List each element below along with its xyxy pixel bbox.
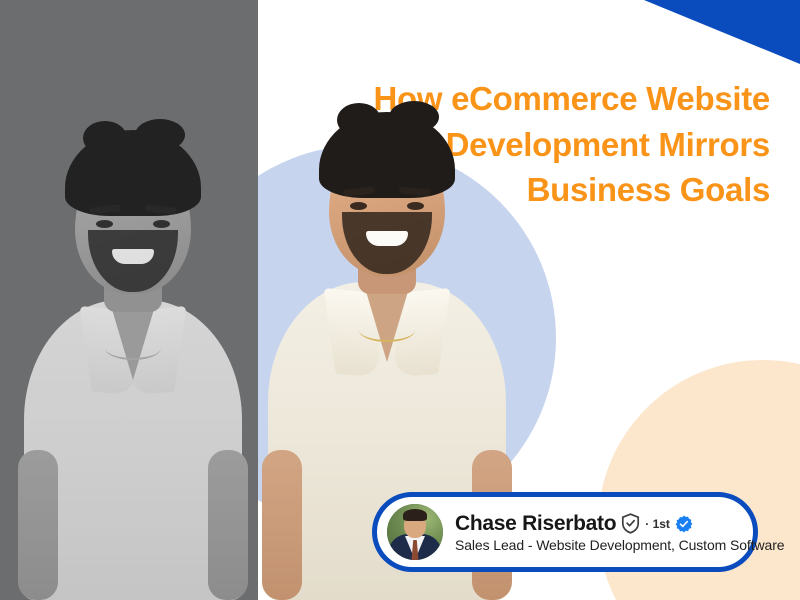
portrait-arm-left bbox=[18, 450, 58, 600]
portrait-hair bbox=[65, 130, 201, 216]
portrait-eye-right bbox=[153, 220, 170, 228]
portrait-arm-right bbox=[208, 450, 248, 600]
portrait-eye-right bbox=[407, 202, 424, 210]
portrait-hair bbox=[319, 112, 455, 198]
profile-subtitle: Sales Lead - Website Development, Custom… bbox=[455, 537, 737, 553]
profile-card-text: Chase Riserbato · 1st Sales Lead - Websi… bbox=[455, 512, 737, 553]
portrait-smile bbox=[112, 249, 154, 264]
grayscale-portrait bbox=[18, 130, 248, 600]
portrait-eye-left bbox=[350, 202, 367, 210]
avatar-hair bbox=[403, 509, 427, 521]
promo-banner: How eCommerce Website Development Mirror… bbox=[0, 0, 800, 600]
profile-card[interactable]: Chase Riserbato · 1st Sales Lead - Websi… bbox=[372, 492, 758, 572]
portrait-necklace bbox=[359, 318, 415, 342]
profile-name-row: Chase Riserbato · 1st bbox=[455, 512, 737, 536]
profile-name: Chase Riserbato bbox=[455, 512, 616, 536]
verified-badge-icon bbox=[675, 515, 693, 533]
shield-check-icon bbox=[621, 513, 640, 534]
connection-degree: · 1st bbox=[645, 517, 670, 531]
portrait-head bbox=[329, 130, 445, 276]
portrait-necklace bbox=[105, 336, 161, 360]
avatar bbox=[387, 504, 443, 560]
portrait-arm-left bbox=[262, 450, 302, 600]
portrait-shirt bbox=[24, 300, 242, 600]
portrait-smile bbox=[366, 231, 408, 246]
portrait-head bbox=[75, 148, 191, 294]
portrait-eye-left bbox=[96, 220, 113, 228]
